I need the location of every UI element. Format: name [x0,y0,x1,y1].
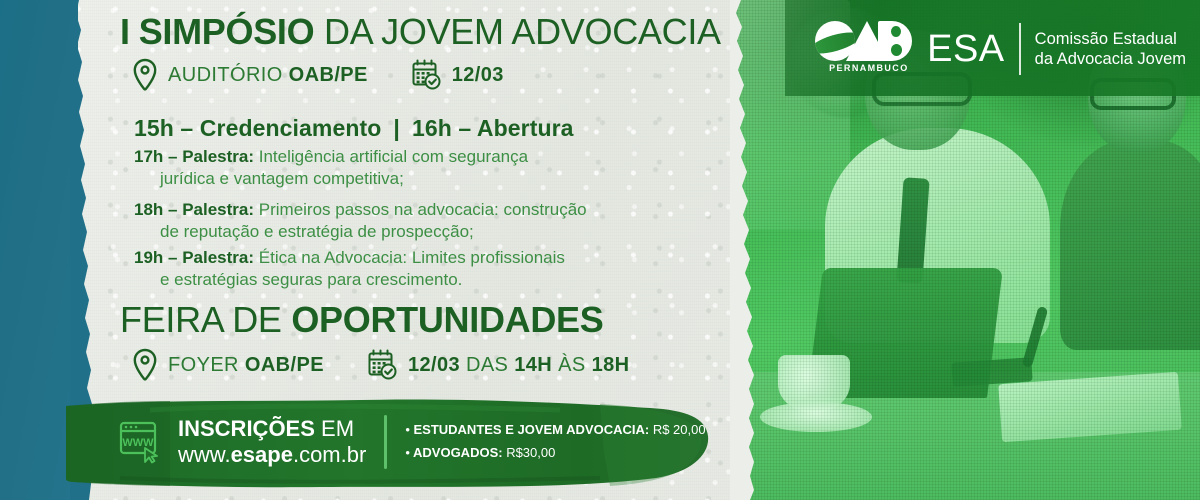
schedule-item-line2: jurídica e vantagem competitiva; [134,168,604,190]
schedule-item-kind: Palestra: [182,200,254,219]
registration-text: INSCRIÇÕES EM www.esape.com.br [178,416,366,468]
schedule-item-line1: Primeiros passos na advocacia: construçã… [254,200,587,219]
svg-text:WWW: WWW [122,437,154,449]
price-row: • ESTUDANTES E JOVEM ADVOCACIA: R$ 20,00 [405,419,705,442]
schedule-headline-separator: | [381,115,412,141]
event-title-rest: DA JOVEM ADVOCACIA [314,11,720,52]
schedule-item-line1: Ética na Advocacia: Limites profissionai… [254,248,565,267]
schedule-item: 18h – Palestra: Primeiros passos na advo… [134,199,604,244]
registration-url-domain: esape [231,442,293,467]
fair-title: FEIRA DE OPORTUNIDADES [120,302,603,338]
event-meta-row: AUDITÓRIO OAB/PE 12/03 [132,58,504,92]
fair-date-mid: DAS [460,354,514,376]
fair-venue-label: FOYER [168,354,245,376]
price-label: ESTUDANTES E JOVEM ADVOCACIA: [410,422,649,437]
schedule-item-line2: e estratégias seguras para crescimento. [134,269,604,291]
schedule-item-kind: Palestra: [182,147,254,166]
oab-letter-o [815,21,855,61]
oab-letter-b [878,21,912,61]
schedule-item-kind: Palestra: [182,248,254,267]
schedule-item-line2: de reputação e estratégia de prospecção; [134,221,604,243]
schedule-headline: 15h – Credenciamento|16h – Abertura [134,115,574,142]
location-pin-icon [132,58,158,92]
schedule-item-line1: Inteligência artificial com segurança [254,147,528,166]
event-title: ISIMPÓSIO DA JOVEM ADVOCACIA [120,14,720,50]
fair-date-mid2: ÀS [552,354,591,376]
registration-url-pre: www. [178,442,231,467]
schedule-item: 19h – Palestra: Ética na Advocacia: Limi… [134,247,604,292]
price-row: • ADVOGADOS: R$30,00 [405,442,705,465]
registration-label-rest: EM [315,416,354,441]
schedule-item: 17h – Palestra: Inteligência artificial … [134,146,604,191]
registration-line1: INSCRIÇÕES EM [178,416,354,441]
registration-content: WWW INSCRIÇÕES EM www.esape.com.br • EST… [118,410,706,474]
event-title-numeral: I [120,11,130,52]
price-value: R$30,00 [503,445,556,460]
schedule-headline-right: 16h – Abertura [412,115,574,141]
registration-divider [384,415,387,469]
www-browser-icon: WWW [118,420,164,464]
event-date: 12/03 [452,64,504,87]
logo-tagline-line1: Comissão Estadual [1035,29,1186,49]
oab-letterforms [815,21,912,61]
registration-label-bold: INSCRIÇÕES [178,416,315,441]
fair-date-start: 12/03 [408,354,460,376]
calendar-check-icon [366,348,398,382]
venue-bold: OAB/PE [289,64,368,86]
oab-state-label: PERNAMBUCO [829,63,909,73]
registration-banner: WWW INSCRIÇÕES EM www.esape.com.br • EST… [0,392,760,500]
fair-meta-row: FOYER OAB/PE 12/03 DAS [132,348,629,382]
fair-title-bold: OPORTUNIDADES [291,299,603,340]
fair-date-to: 18H [592,354,630,376]
fair-date: 12/03 DAS 14H ÀS 18H [408,354,630,377]
logo-tagline: Comissão Estadual da Advocacia Jovem [1035,29,1186,69]
oab-logo-icon: PERNAMBUCO [815,21,919,77]
venue-label: AUDITÓRIO [168,64,289,86]
location-pin-icon [132,348,158,382]
fair-venue-bold: OAB/PE [245,354,324,376]
price-list: • ESTUDANTES E JOVEM ADVOCACIA: R$ 20,00… [405,419,705,465]
poster-canvas: PERNAMBUCO ESA Comissão Estadual da Advo… [0,0,1200,500]
venue-text: AUDITÓRIO OAB/PE [168,64,368,87]
schedule-item-time: 18h – [134,200,182,219]
logo-tagline-line2: da Advocacia Jovem [1035,49,1186,69]
registration-url-post: .com.br [293,442,366,467]
logo-lockup: PERNAMBUCO ESA Comissão Estadual da Advo… [815,20,1186,78]
fair-venue-text: FOYER OAB/PE [168,354,324,377]
calendar-check-icon [410,58,442,92]
fair-date-from: 14H [514,354,552,376]
event-title-bold: SIMPÓSIO [139,11,315,52]
logo-divider [1019,23,1021,75]
price-value: R$ 20,00 [649,422,705,437]
schedule-item-time: 17h – [134,147,182,166]
registration-url: www.esape.com.br [178,442,366,468]
fair-title-light: FEIRA DE [120,299,291,340]
esa-wordmark: ESA [927,30,1005,68]
price-label: ADVOGADOS: [410,445,503,460]
schedule-item-time: 19h – [134,248,182,267]
schedule-headline-left: 15h – Credenciamento [134,115,381,141]
